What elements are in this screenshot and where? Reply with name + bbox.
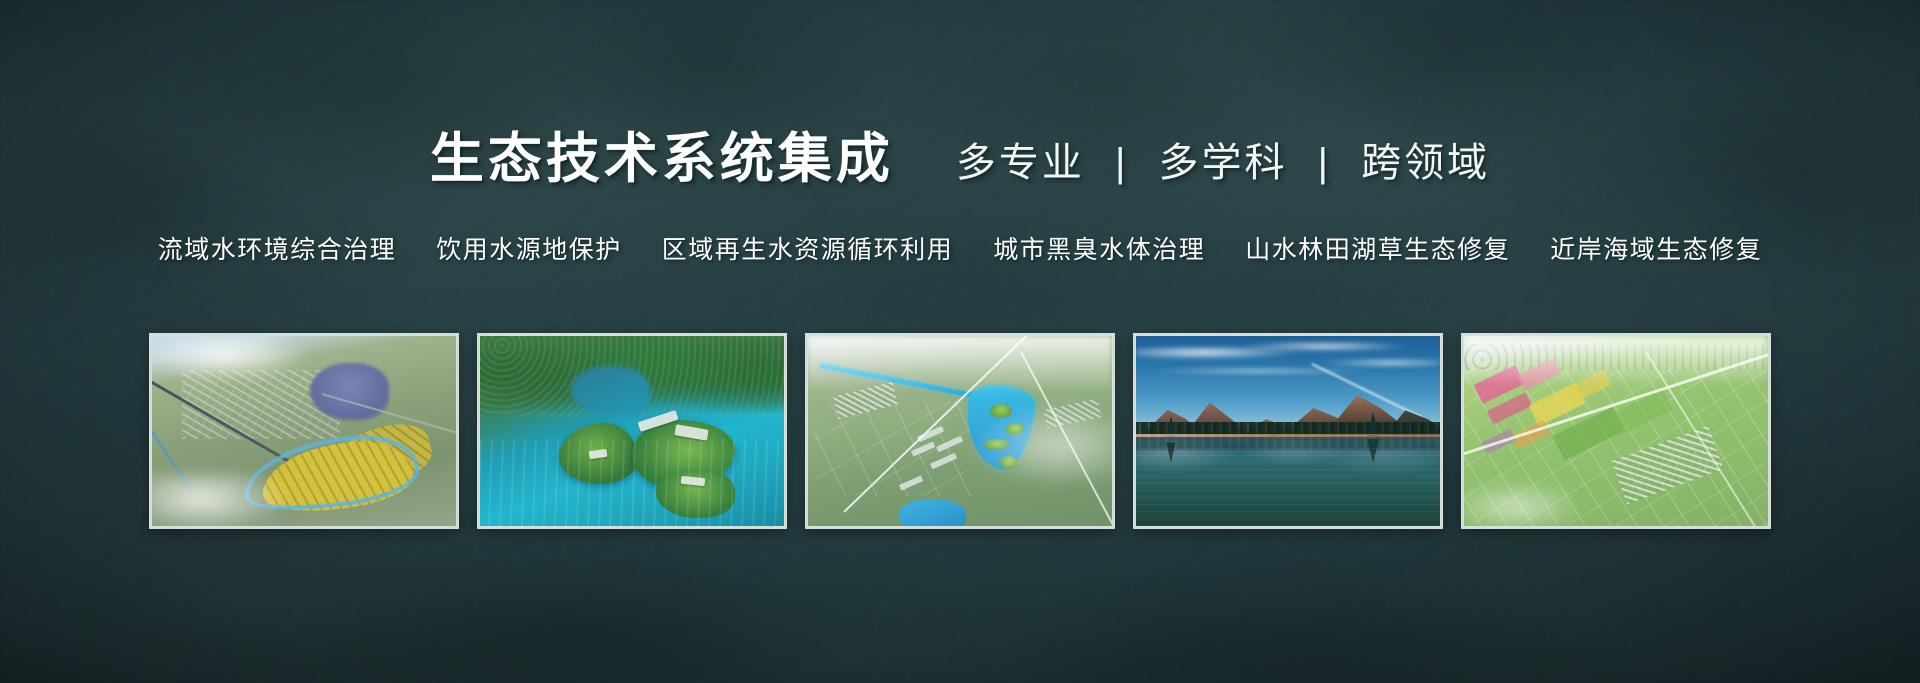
thumbnail-4-mountain-lake-photo[interactable] bbox=[1133, 333, 1443, 529]
thumbnail-5-ecological-restoration[interactable] bbox=[1461, 333, 1771, 529]
keyword-item-1[interactable]: 流域水环境综合治理 bbox=[158, 230, 397, 266]
hero-banner: 生态技术系统集成 多专业 | 多学科 | 跨领域 流域水环境综合治理 饮用水源地… bbox=[0, 0, 1920, 683]
thumbnail-2-image bbox=[480, 336, 784, 526]
thumbnail-3-reclaimed-water-reuse[interactable] bbox=[805, 333, 1115, 529]
thumbnail-3-image bbox=[808, 336, 1112, 526]
headline-row: 生态技术系统集成 多专业 | 多学科 | 跨领域 bbox=[0, 132, 1920, 186]
headline-sub-separator-2: | bbox=[1302, 143, 1347, 183]
keywords-row: 流域水环境综合治理 饮用水源地保护 区域再生水资源循环利用 城市黑臭水体治理 山… bbox=[0, 230, 1920, 266]
water-shimmer bbox=[480, 439, 784, 526]
thumbnail-strip bbox=[0, 333, 1920, 529]
headline-sub-part-3: 跨领域 bbox=[1361, 141, 1490, 185]
pond bbox=[899, 499, 966, 529]
headline-sub-part-2: 多学科 bbox=[1159, 141, 1288, 185]
headline-main: 生态技术系统集成 bbox=[430, 132, 894, 186]
thumbnail-1-watershed-treatment[interactable] bbox=[149, 333, 459, 529]
thumbnail-1-image bbox=[152, 336, 456, 526]
keyword-item-4[interactable]: 城市黑臭水体治理 bbox=[993, 230, 1205, 266]
thumbnail-5-image bbox=[1464, 336, 1768, 526]
keyword-item-6[interactable]: 近岸海域生态修复 bbox=[1550, 230, 1762, 266]
thumbnail-4-image bbox=[1136, 336, 1440, 526]
headline-sub-separator-1: | bbox=[1099, 143, 1144, 183]
headline-sub-part-1: 多专业 bbox=[956, 141, 1085, 185]
haze-top bbox=[808, 336, 1112, 393]
keyword-item-2[interactable]: 饮用水源地保护 bbox=[436, 230, 622, 266]
thumbnail-2-water-source-protection[interactable] bbox=[477, 333, 787, 529]
mist-top bbox=[1464, 336, 1768, 385]
water-ripple bbox=[1136, 437, 1440, 526]
cloud-lower bbox=[149, 473, 298, 529]
keyword-item-5[interactable]: 山水林田湖草生态修复 bbox=[1245, 230, 1510, 266]
banner-content: 生态技术系统集成 多专业 | 多学科 | 跨领域 流域水环境综合治理 饮用水源地… bbox=[0, 0, 1920, 683]
shoreline-trees bbox=[1136, 422, 1440, 435]
keyword-item-3[interactable]: 区域再生水资源循环利用 bbox=[662, 230, 954, 266]
cloud-upper bbox=[149, 333, 316, 378]
haze-right bbox=[966, 404, 1115, 488]
mist-bottom bbox=[1461, 480, 1586, 529]
headline-subtitle: 多专业 | 多学科 | 跨领域 bbox=[956, 143, 1490, 186]
